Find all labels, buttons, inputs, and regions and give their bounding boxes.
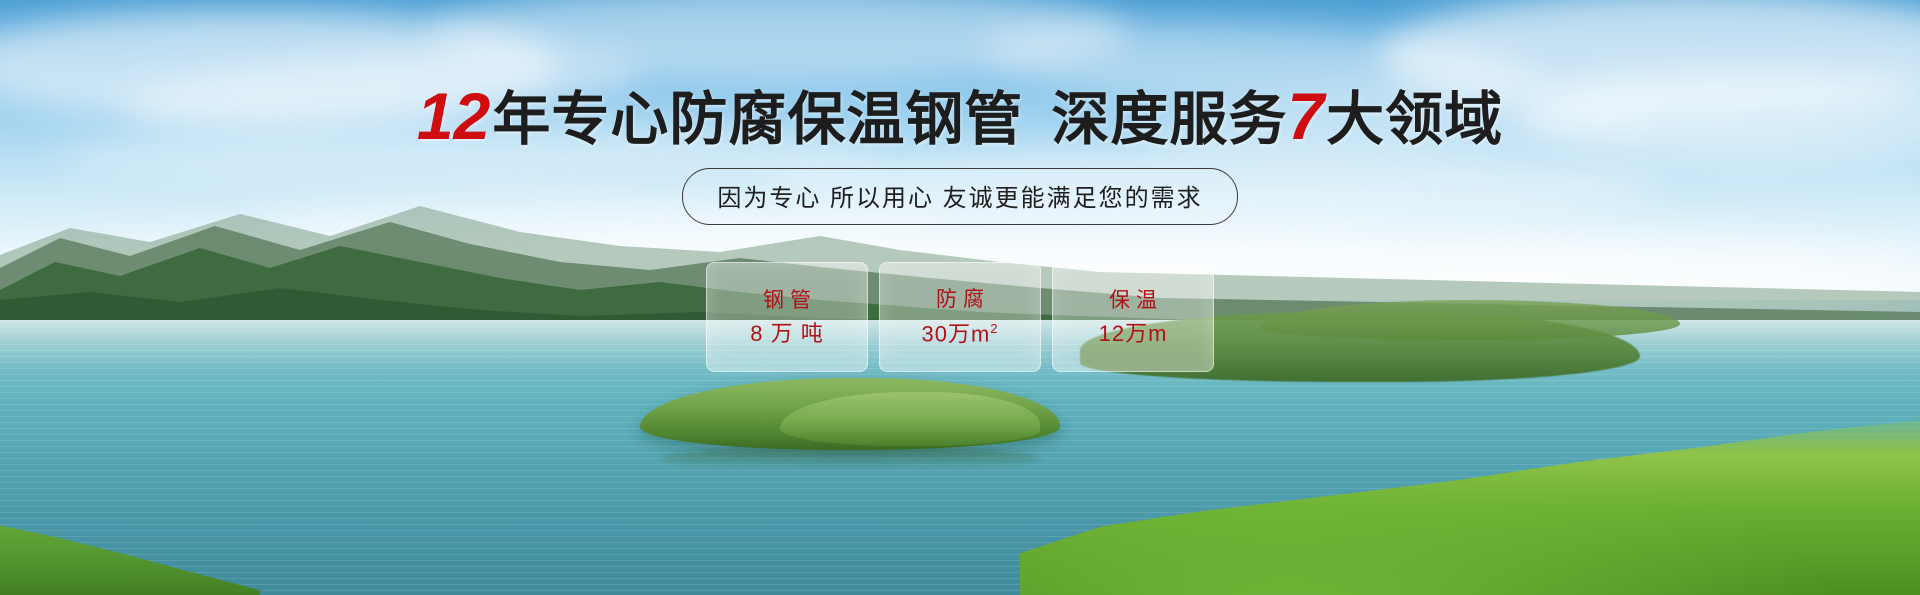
- headline-lead-text: 年专心防腐保温钢管: [492, 87, 1023, 152]
- stat-card-value-superscript: 2: [990, 321, 998, 336]
- stat-card-value: 8 万 吨: [750, 323, 823, 345]
- subtitle-wrapper: 因为专心 所以用心 友诚更能满足您的需求: [0, 168, 1920, 225]
- headline-years-number: 12: [417, 79, 492, 153]
- stat-card-value: 12万m: [1099, 323, 1168, 345]
- headline-second-text-before: 深度服务: [1051, 87, 1287, 152]
- subtitle-pill: 因为专心 所以用心 友诚更能满足您的需求: [682, 168, 1237, 225]
- stats-card-group: 钢管 8 万 吨 防腐 30万m2 保温 12万m: [0, 262, 1920, 372]
- stat-card-steel-pipe[interactable]: 钢管 8 万 吨: [706, 262, 868, 372]
- stat-card-value: 30万m2: [921, 322, 998, 345]
- stat-card-anticorrosion[interactable]: 防腐 30万m2: [879, 262, 1041, 372]
- hero-banner: 12年专心防腐保温钢管深度服务7大领域 因为专心 所以用心 友诚更能满足您的需求…: [0, 0, 1920, 595]
- stat-card-title: 防腐: [930, 289, 990, 310]
- banner-content: 12年专心防腐保温钢管深度服务7大领域 因为专心 所以用心 友诚更能满足您的需求…: [0, 0, 1920, 595]
- stat-card-title: 钢管: [757, 290, 817, 311]
- stat-card-value-main: 8 万 吨: [750, 321, 823, 346]
- stat-card-value-main: 30万m: [921, 321, 990, 346]
- banner-headline: 12年专心防腐保温钢管深度服务7大领域: [0, 83, 1920, 149]
- stat-card-insulation[interactable]: 保温 12万m: [1052, 262, 1214, 372]
- stat-card-value-main: 12万m: [1099, 321, 1168, 346]
- headline-second-text-after: 大领域: [1326, 87, 1503, 152]
- headline-fields-number: 7: [1287, 79, 1326, 153]
- stat-card-title: 保温: [1103, 290, 1163, 311]
